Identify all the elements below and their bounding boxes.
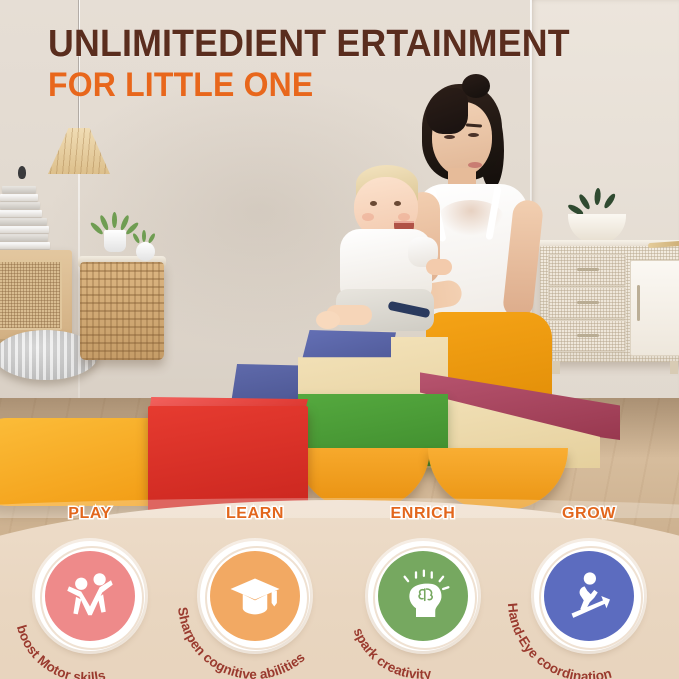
benefit-badge-row: PLAY boost Motor skills LEARN: [0, 505, 679, 679]
badge-disc-enrich: [378, 551, 468, 641]
book-stack: [0, 178, 52, 254]
graduation-cap-icon: [227, 568, 283, 624]
badge-label-learn: LEARN: [170, 505, 340, 523]
badge-label-grow-text: GROW: [562, 505, 616, 522]
wicker-basket: [80, 262, 164, 360]
headline-line-1: UNLIMITEDIENT ERTAINMENT: [48, 26, 612, 63]
promo-banner: UNLIMITEDIENT ERTAINMENT FOR LITTLE ONE …: [0, 0, 679, 679]
rattan-sideboard: [0, 250, 72, 340]
badge-grow[interactable]: GROW Hand-Eye coordination: [504, 505, 674, 679]
headline-line-2: FOR LITTLE ONE: [48, 69, 612, 102]
foam-orange-semicircle-mat: [0, 418, 164, 506]
badge-play[interactable]: PLAY boost Motor skills: [5, 505, 175, 679]
badge-disc-play: [45, 551, 135, 641]
children-playing-icon: [62, 568, 118, 624]
baby-figure: [330, 165, 462, 345]
badge-label-learn-text: LEARN: [226, 505, 284, 522]
badge-learn[interactable]: LEARN Sharpen cognitive abilities: [170, 505, 340, 679]
decor-knob: [18, 166, 26, 179]
badge-label-play: PLAY: [5, 505, 175, 523]
plant-leaves-small: [130, 228, 170, 254]
badge-disc-learn: [210, 551, 300, 641]
badge-label-enrich-text: ENRICH: [391, 505, 456, 522]
badge-label-grow: GROW: [504, 505, 674, 523]
badge-enrich[interactable]: ENRICH: [338, 505, 508, 679]
badge-label-enrich: ENRICH: [338, 505, 508, 523]
person-climbing-arrow-icon: [561, 568, 617, 624]
brain-head-idea-icon: [395, 568, 451, 624]
badge-label-play-text: PLAY: [68, 505, 112, 522]
badge-disc-grow: [544, 551, 634, 641]
headline: UNLIMITEDIENT ERTAINMENT FOR LITTLE ONE: [48, 26, 612, 103]
